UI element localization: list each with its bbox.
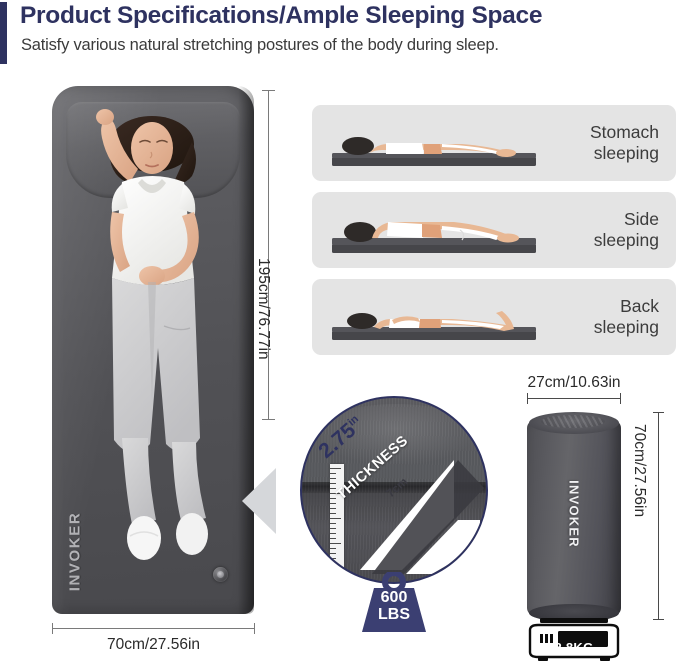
mat-brand-logo: INVOKER xyxy=(66,512,83,592)
mat-air-valve xyxy=(213,567,228,582)
mat-height-dimension-line xyxy=(268,90,269,420)
header: Product Specifications/Ample Sleeping Sp… xyxy=(0,0,679,72)
sleep-position-card-stomach: Stomach sleeping xyxy=(312,105,676,181)
mat-width-label: 70cm/27.56in xyxy=(52,636,255,654)
bag-brand-logo: INVOKER xyxy=(567,480,582,548)
page-title: Product Specifications/Ample Sleeping Sp… xyxy=(20,2,542,30)
thickness-diagonal-graphic xyxy=(358,458,486,576)
sleep-position-card-side: Side sleeping xyxy=(312,192,676,268)
mat-height-label: 195cm/76.77in xyxy=(254,258,272,360)
zoom-pointer-arrow xyxy=(242,468,276,534)
back-sleeping-figure xyxy=(330,287,540,347)
thickness-zoom-circle: 2.75in THICKNESS 7cm xyxy=(300,396,488,584)
bag-diameter-dimension-line xyxy=(527,398,621,399)
bag-diameter-label: 27cm/10.63in xyxy=(498,374,650,392)
bag-length-dimension-line xyxy=(658,412,659,620)
ruler-icon xyxy=(330,464,344,576)
sleep-position-label: Side sleeping xyxy=(594,209,659,251)
sleep-position-label: Stomach sleeping xyxy=(590,122,659,164)
bag-length-label: 70cm/27.56in xyxy=(630,424,648,517)
weight-scale: 2.8KG xyxy=(518,618,630,664)
packed-bag-photo: INVOKER xyxy=(527,410,621,618)
sleep-position-label: Back sleeping xyxy=(594,296,659,338)
sleeping-pad-photo: INVOKER xyxy=(52,86,254,614)
page-subtitle: Satisfy various natural stretching postu… xyxy=(21,36,499,55)
header-accent-bar xyxy=(0,2,7,64)
weight-capacity-badge: 600 LBS xyxy=(358,572,430,634)
mat-width-dimension-line xyxy=(52,628,255,629)
sleep-position-card-back: Back sleeping xyxy=(312,279,676,355)
weight-capacity-text: 600 LBS xyxy=(358,590,430,623)
stomach-sleeping-figure xyxy=(330,113,540,173)
bag-top-texture xyxy=(541,415,605,428)
scale-reading-text: 2.8KG xyxy=(554,640,593,655)
side-sleeping-figure xyxy=(330,200,540,260)
